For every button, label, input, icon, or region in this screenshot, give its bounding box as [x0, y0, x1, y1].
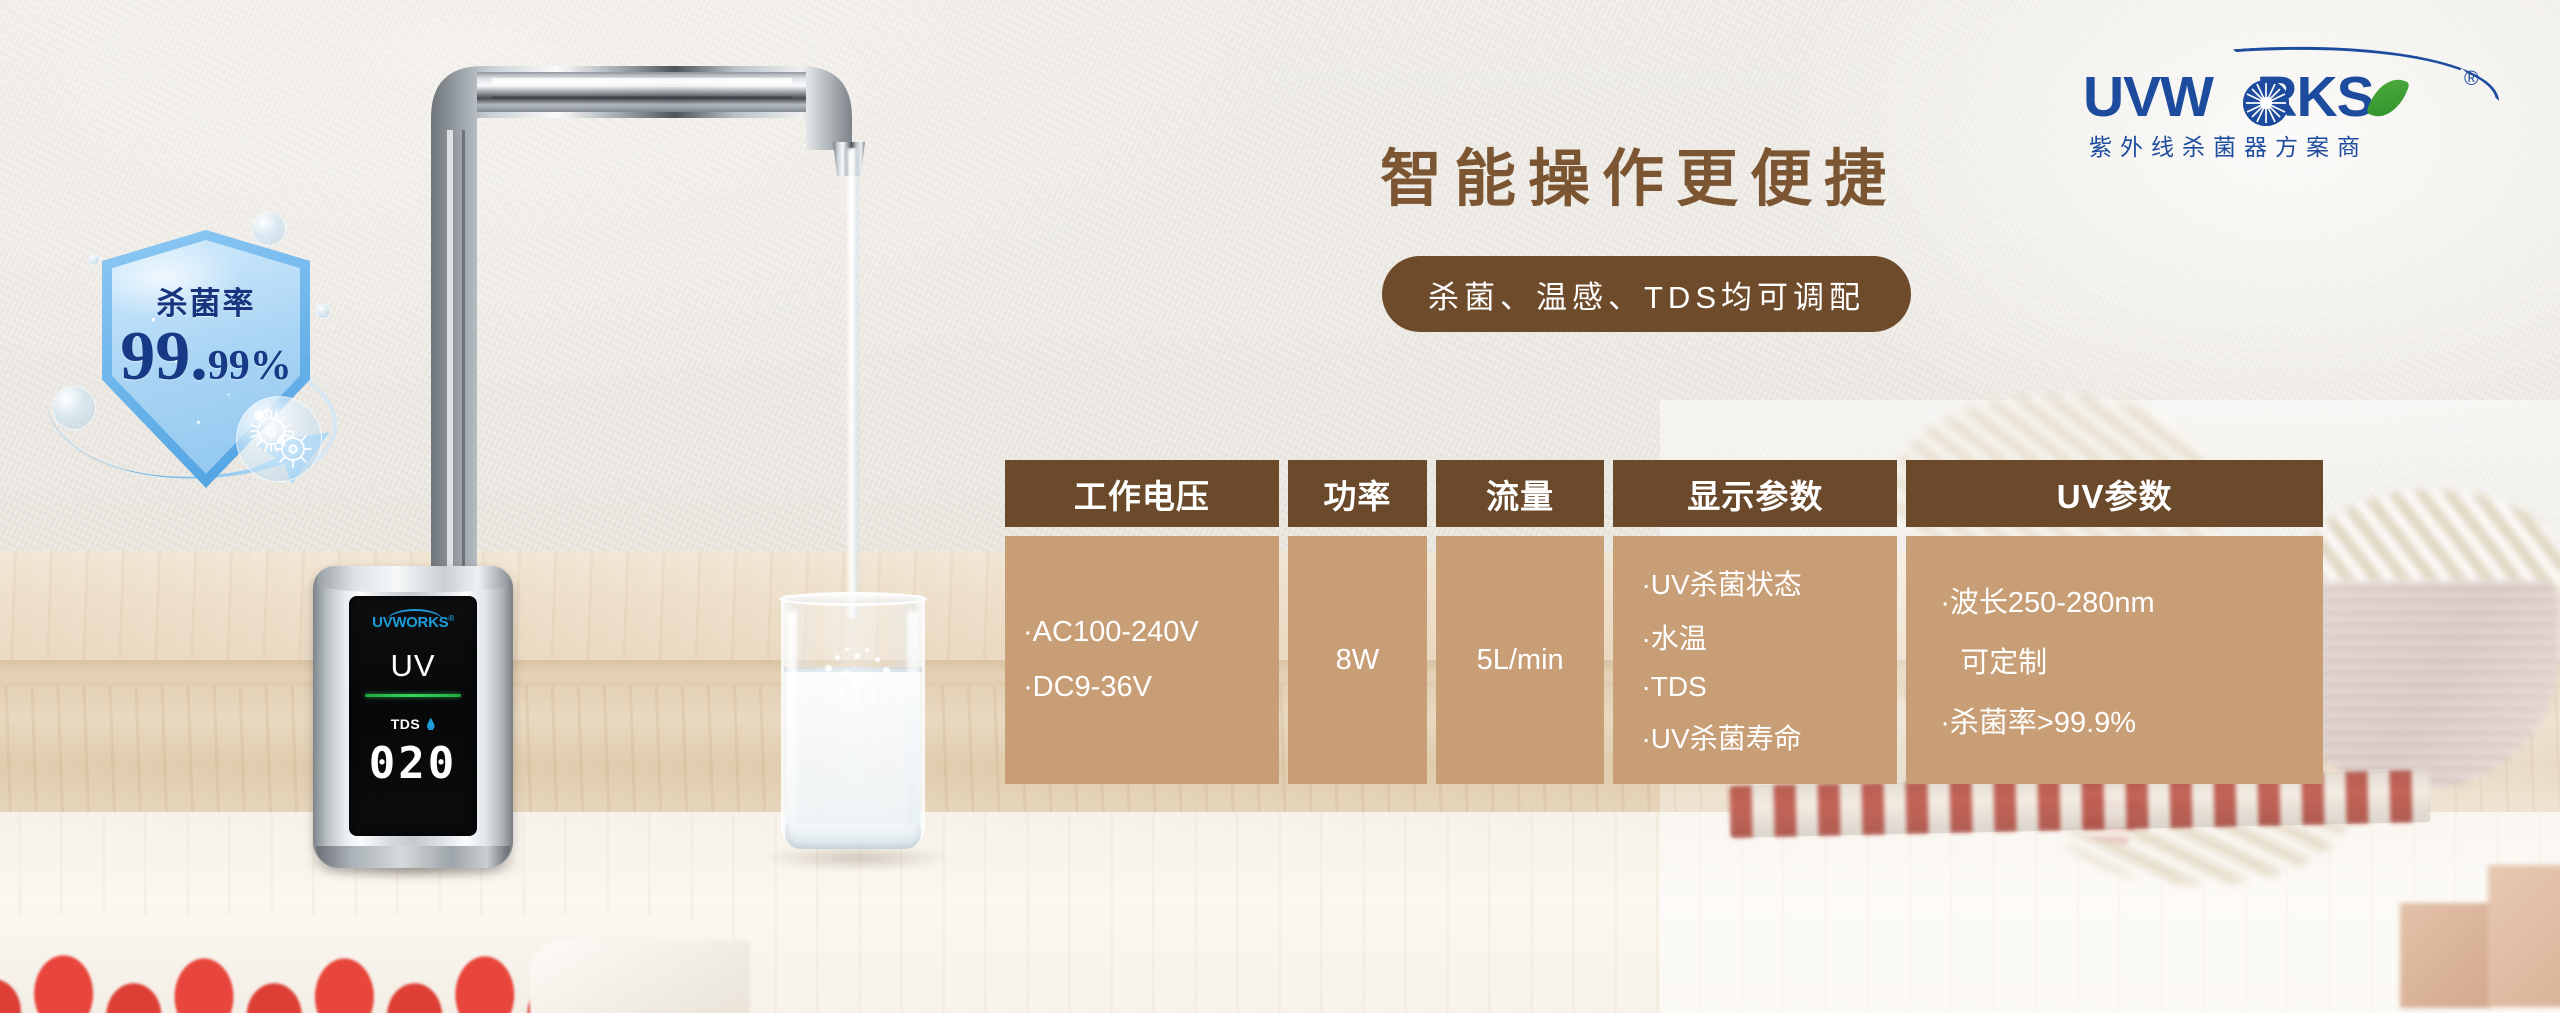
page-title: 智能操作更便捷 [1380, 128, 1898, 218]
spec-column-uv-params: UV参数 ·波长250-280nm 可定制 ·杀菌率>99.9% [1906, 460, 2323, 784]
screen-mode-label: UV [349, 648, 477, 684]
wood-block [2488, 865, 2560, 1007]
bubble-icon [316, 304, 331, 319]
spec-line: ·AC100-240V [1023, 616, 1265, 649]
brand-wordmark-head: UVW [2083, 65, 2213, 129]
device-display[interactable]: UVWORKS® UV TDS 020 [349, 596, 477, 836]
screen-brand-registered: ® [448, 614, 454, 623]
badge-value-fraction: 99% [208, 343, 292, 389]
screen-tds-value: 020 [349, 742, 477, 786]
badge-label: 杀菌率 [102, 278, 310, 323]
spec-column-power: 功率 8W [1288, 460, 1427, 784]
spec-body: ·UV杀菌状态 ·水温 ·TDS ·UV杀菌寿命 [1613, 536, 1897, 784]
spec-column-working-voltage: 工作电压 ·AC100-240V ·DC9-36V [1005, 460, 1279, 784]
device-bottom-cap [316, 846, 510, 868]
spec-line: ·DC9-36V [1023, 671, 1265, 704]
spec-line: ·水温 [1641, 617, 1883, 657]
spec-line: ·TDS [1641, 671, 1883, 703]
spec-header: UV参数 [1906, 460, 2323, 527]
sun-burst-rays-icon [2243, 80, 2289, 126]
screen-tds-label: TDS [391, 716, 421, 732]
wood-block [2400, 903, 2492, 1008]
bacteria-icon [237, 397, 323, 483]
bubble-icon [88, 254, 100, 266]
spec-header: 流量 [1436, 460, 1605, 527]
cloth-fold [530, 941, 750, 1013]
spec-body: ·波长250-280nm 可定制 ·杀菌率>99.9% [1906, 536, 2323, 784]
badge-value: 99.99% [102, 322, 310, 392]
spec-table: 工作电压 ·AC100-240V ·DC9-36V 功率 8W 流量 5L/mi… [1005, 460, 2323, 784]
badge-value-whole: 99 [120, 318, 190, 395]
screen-tds-row: TDS [349, 716, 477, 732]
spec-body: 8W [1288, 536, 1427, 784]
spec-header: 显示参数 [1613, 460, 1897, 527]
screen-brand-text: UVWORKS [372, 614, 448, 631]
spec-header: 功率 [1288, 460, 1427, 527]
bubble-icon [52, 386, 96, 430]
spec-line: ·波长250-280nm [1940, 579, 2309, 621]
registered-trademark: ® [2464, 68, 2479, 91]
uv-device[interactable]: UVWORKS® UV TDS 020 [313, 566, 513, 868]
water-drop-icon [426, 718, 435, 731]
subtitle-pill-label: 杀菌、温感、TDS均可调配 [1428, 272, 1865, 317]
spec-line: 可定制 [1960, 639, 2309, 681]
water-glass-icon [773, 595, 933, 865]
glass-water [786, 669, 920, 841]
glass-base [785, 823, 921, 849]
spec-line: ·UV杀菌状态 [1641, 563, 1883, 603]
spec-line: 5L/min [1477, 644, 1564, 677]
spec-header: 工作电压 [1005, 460, 1279, 527]
sterilization-rate-badge: 杀菌率 99.99% [48, 218, 368, 518]
glass-rim [779, 592, 927, 606]
brand-wordmark: UVWORKS [2083, 64, 2374, 130]
bubble-icon [252, 212, 286, 246]
spec-body: ·AC100-240V ·DC9-36V [1005, 536, 1279, 784]
glass-highlight-right [907, 611, 919, 826]
subtitle-pill: 杀菌、温感、TDS均可调配 [1382, 256, 1911, 332]
germ-bubble [236, 396, 322, 482]
spec-column-flow-rate: 流量 5L/min [1436, 460, 1605, 784]
spec-line: ·杀菌率>99.9% [1940, 699, 2309, 741]
checkered-cloth [0, 915, 750, 1013]
spec-body: 5L/min [1436, 536, 1605, 784]
spec-line: 8W [1336, 644, 1380, 677]
screen-status-bar [365, 694, 461, 697]
spec-line: ·UV杀菌寿命 [1641, 717, 1883, 757]
badge-value-dot: . [190, 318, 208, 395]
glass-highlight-left [787, 611, 797, 826]
product-banner: UVWORKS® UV TDS 020 [0, 0, 2560, 1013]
brand-tagline: 紫外线杀菌器方案商 [2089, 128, 2368, 162]
brand-logo: UVWORKS ® 紫外线杀菌器方案商 [2083, 36, 2503, 146]
device-top-cap [317, 566, 509, 592]
spec-column-display-params: 显示参数 ·UV杀菌状态 ·水温 ·TDS ·UV杀菌寿命 [1613, 460, 1897, 784]
water-splash [821, 645, 893, 693]
wood-blocks-prop [2400, 855, 2560, 1005]
water-stream-highlight [848, 150, 854, 310]
screen-brand-logo: UVWORKS® [349, 614, 477, 631]
